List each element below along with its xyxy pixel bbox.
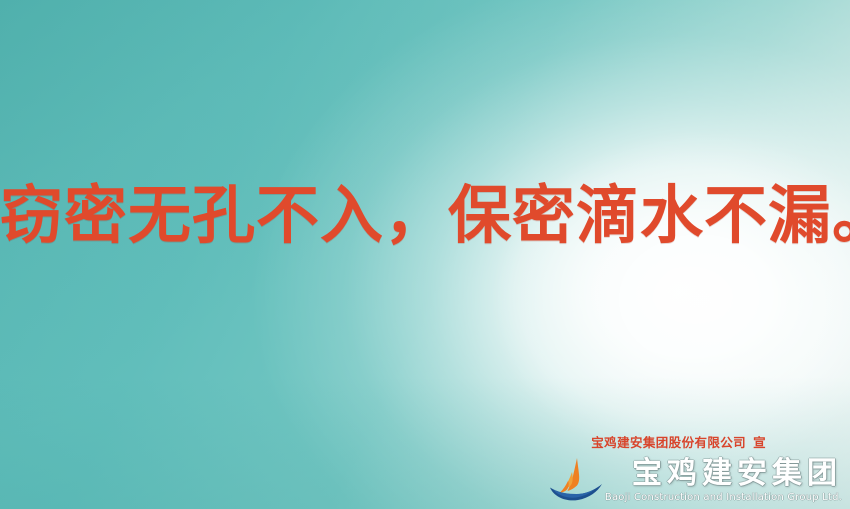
logo-row: 宝鸡建安集团 Baoji Construction and Installati… xyxy=(542,457,842,505)
poster-headline: 窃密无孔不入，保密滴水不漏。 xyxy=(0,178,850,254)
company-name-line: 宝鸡建安集团股份有限公司宣 xyxy=(542,435,842,451)
logo-name-en: Baoji Construction and Installation Grou… xyxy=(605,491,842,504)
logo-text-column: 宝鸡建安集团 Baoji Construction and Installati… xyxy=(605,457,842,505)
company-name-text: 宝鸡建安集团股份有限公司 xyxy=(591,435,746,450)
branding-block: 宝鸡建安集团股份有限公司宣 宝鸡建安集团 Baoji Construction … xyxy=(542,435,842,505)
background-gradient-base xyxy=(0,0,850,509)
background-radial-highlight-core xyxy=(0,0,850,509)
background-bottom-shade xyxy=(0,0,850,509)
poster-canvas: 窃密无孔不入，保密滴水不漏。 宝鸡建安集团股份有限公司宣 宝鸡建安集团 Baoj… xyxy=(0,0,850,509)
company-name-suffix: 宣 xyxy=(746,435,766,450)
logo-name-cn: 宝鸡建安集团 xyxy=(632,457,842,490)
sail-boat-logo-icon xyxy=(547,457,603,503)
background-radial-highlight xyxy=(0,0,850,509)
background-corner-shade xyxy=(0,0,850,509)
